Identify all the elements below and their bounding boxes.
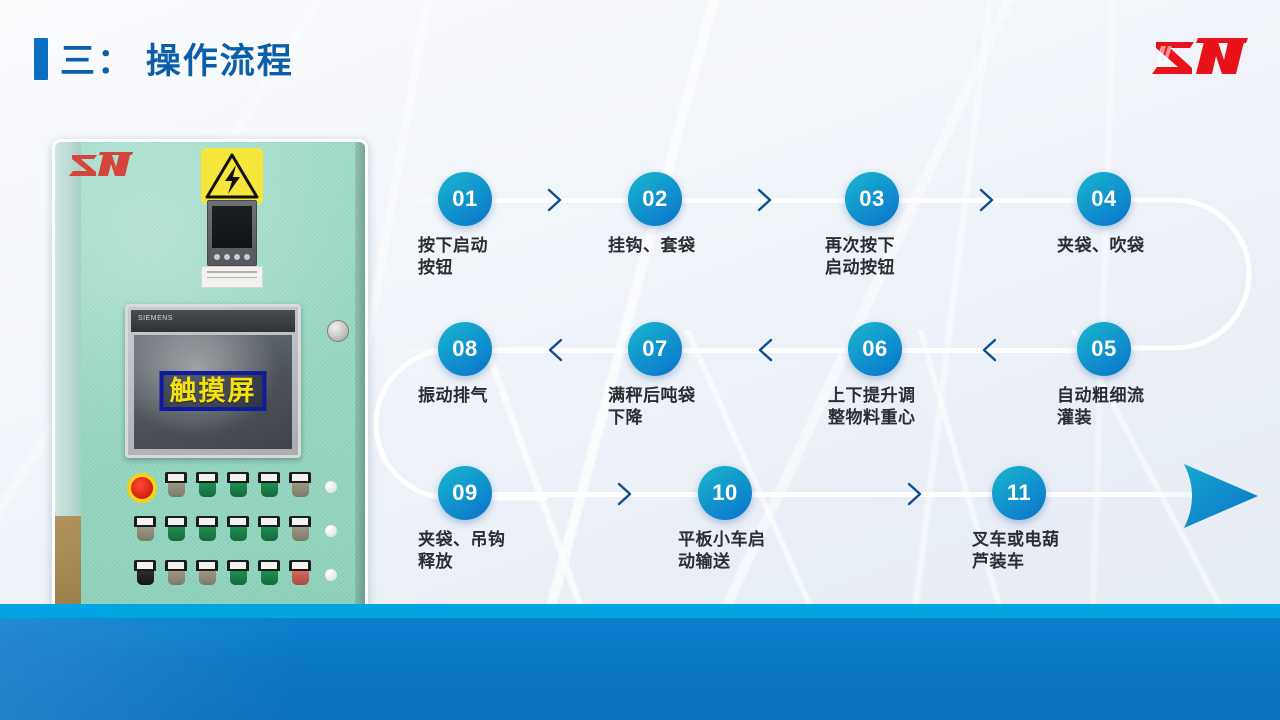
company-logo-zn <box>1148 34 1252 80</box>
high-voltage-icon <box>201 148 263 204</box>
pushbutton <box>165 560 187 585</box>
flow-caption-09: 夹袋、吊钩 释放 <box>418 529 598 574</box>
flow-caption-07: 满秤后吨袋 下降 <box>608 385 788 430</box>
pushbutton <box>289 560 311 585</box>
hmi-screen: 触摸屏 <box>134 335 292 449</box>
flow-node-08[interactable]: 08 <box>438 322 492 376</box>
flow-node-11[interactable]: 11 <box>992 466 1046 520</box>
flow-caption-06: 上下提升调 整物料重心 <box>828 385 1008 430</box>
slide-root: 三： 操作流程 <box>0 0 1280 720</box>
pushbutton <box>227 472 249 497</box>
process-flow-diagram: 01 按下启动 按钮 02 挂钩、套袋 03 再次按下 启动按钮 04 夹袋、吹… <box>380 130 1280 610</box>
pushbutton <box>165 516 187 541</box>
flow-caption-04: 夹袋、吹袋 <box>1057 235 1237 257</box>
flow-end-arrow <box>1180 460 1260 532</box>
indicator-lamp <box>325 525 337 537</box>
pushbutton <box>134 516 156 541</box>
control-cabinet-photo: SIEMENS 触摸屏 <box>52 139 368 679</box>
indicator-lamp <box>325 569 337 581</box>
pushbutton <box>227 516 249 541</box>
flow-node-10[interactable]: 10 <box>698 466 752 520</box>
flow-chevron-right <box>545 187 565 213</box>
indicator-lamp <box>325 481 337 493</box>
flow-node-01[interactable]: 01 <box>438 172 492 226</box>
flow-node-02[interactable]: 02 <box>628 172 682 226</box>
flow-node-07[interactable]: 07 <box>628 322 682 376</box>
pushbutton-row <box>107 516 357 550</box>
hmi-touch-panel: SIEMENS 触摸屏 <box>125 304 301 458</box>
flow-caption-08: 振动排气 <box>418 385 598 407</box>
flow-caption-01: 按下启动 按钮 <box>418 235 598 280</box>
footer-sheen <box>0 618 420 720</box>
selector-switch <box>134 560 156 585</box>
page-title: 三： 操作流程 <box>60 33 294 84</box>
slide-header: 三： 操作流程 <box>0 0 1280 110</box>
flow-node-06[interactable]: 06 <box>848 322 902 376</box>
flow-chevron-left <box>546 337 566 363</box>
pushbutton <box>196 516 218 541</box>
flow-node-05[interactable]: 05 <box>1077 322 1131 376</box>
touchscreen-label-text: 触摸屏 <box>170 377 257 405</box>
flow-caption-02: 挂钩、套袋 <box>608 235 788 257</box>
cabinet-lock-knob <box>327 320 349 342</box>
handwritten-label-tag <box>201 266 263 288</box>
flow-caption-05: 自动粗细流 灌装 <box>1057 385 1237 430</box>
pushbutton <box>227 560 249 585</box>
pushbutton <box>258 516 280 541</box>
panel-meter-buttons <box>212 252 252 262</box>
pushbutton <box>165 472 187 497</box>
panel-meter-screen <box>212 206 252 248</box>
flow-caption-10: 平板小车启 动输送 <box>678 529 858 574</box>
title-accent-bar <box>34 38 48 80</box>
flow-chevron-right <box>755 187 775 213</box>
pushbutton <box>289 516 311 541</box>
flow-node-09[interactable]: 09 <box>438 466 492 520</box>
hmi-brand-label: SIEMENS <box>138 315 173 322</box>
pushbutton-row <box>107 472 357 506</box>
flow-track-row3 <box>400 492 1230 497</box>
emergency-stop-button <box>127 473 157 503</box>
footer-accent-strip <box>0 604 1280 618</box>
cabinet-logo-zn <box>67 150 135 180</box>
touchscreen-label-box: 触摸屏 <box>160 371 267 411</box>
flow-chevron-left <box>980 337 1000 363</box>
flow-caption-11: 叉车或电葫 芦装车 <box>972 529 1152 574</box>
pushbutton <box>258 560 280 585</box>
flow-chevron-right <box>615 481 635 507</box>
flow-chevron-left <box>756 337 776 363</box>
hmi-bezel: SIEMENS <box>131 310 295 332</box>
pushbutton <box>196 560 218 585</box>
flow-caption-03: 再次按下 启动按钮 <box>825 235 1005 280</box>
panel-meter-device <box>207 200 257 266</box>
flow-node-04[interactable]: 04 <box>1077 172 1131 226</box>
pushbutton <box>289 472 311 497</box>
pushbutton <box>258 472 280 497</box>
flow-chevron-right <box>905 481 925 507</box>
pushbutton <box>196 472 218 497</box>
flow-node-03[interactable]: 03 <box>845 172 899 226</box>
pushbutton-row <box>107 560 357 594</box>
flow-chevron-right <box>977 187 997 213</box>
